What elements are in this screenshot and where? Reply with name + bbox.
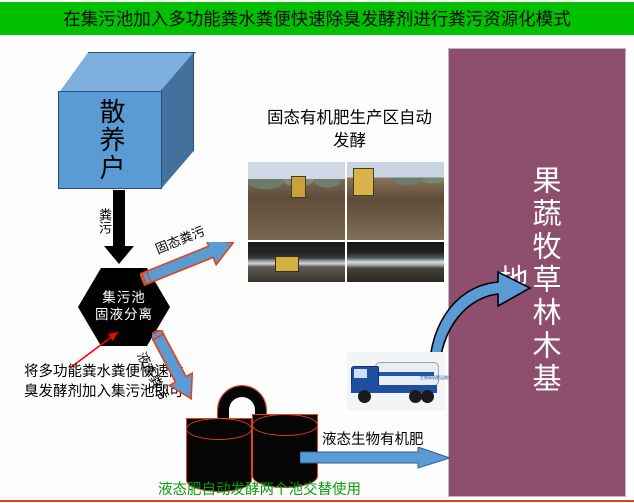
tanks-caption: 液态肥自动发酵两个池交替使用 (158, 478, 361, 499)
title-banner: 在集污池加入多功能粪水粪便快速除臭发酵剂进行粪污资源化模式 (0, 2, 634, 35)
diagram-canvas: 果蔬牧草林木基地 在集污池加入多功能粪水粪便快速除臭发酵剂进行粪污资源化模式 散… (0, 0, 634, 503)
compost-area-title: 固态有机肥生产区自动发酵 (262, 106, 437, 152)
compost-photo-outdoor-loader (347, 162, 444, 240)
compost-photo-outdoor-turner (248, 162, 345, 240)
cube-label-wrap: 散养户 (58, 92, 162, 188)
truck-stripe (377, 372, 434, 376)
liquid-fertilizer-label: 液态生物有机肥 (322, 428, 424, 449)
manure-flow-arrow-head (104, 246, 134, 264)
compost-photo-grid (248, 162, 444, 280)
truck-window (354, 369, 367, 378)
fermentation-tanks (186, 386, 321, 491)
truck-wheel-front (358, 390, 371, 403)
title-text: 在集污池加入多功能粪水粪便快速除臭发酵剂进行粪污资源化模式 (63, 6, 571, 31)
manure-flow-arrow-shaft (113, 190, 125, 250)
bottom-divider (0, 500, 634, 502)
separator-line2: 固液分离 (95, 307, 153, 324)
source-cube: 散养户 (58, 52, 198, 192)
liquid-fertilizer-arrow-icon (300, 447, 452, 469)
compost-photo-indoor-loader (248, 242, 345, 282)
manure-label: 粪污 (93, 208, 111, 234)
separator-line1: 集污池 (102, 290, 146, 307)
source-cube-label: 散养户 (95, 98, 125, 182)
truck-wheel-rear (421, 390, 434, 403)
transport-truck: 生物有机肥运输车 (347, 352, 445, 410)
